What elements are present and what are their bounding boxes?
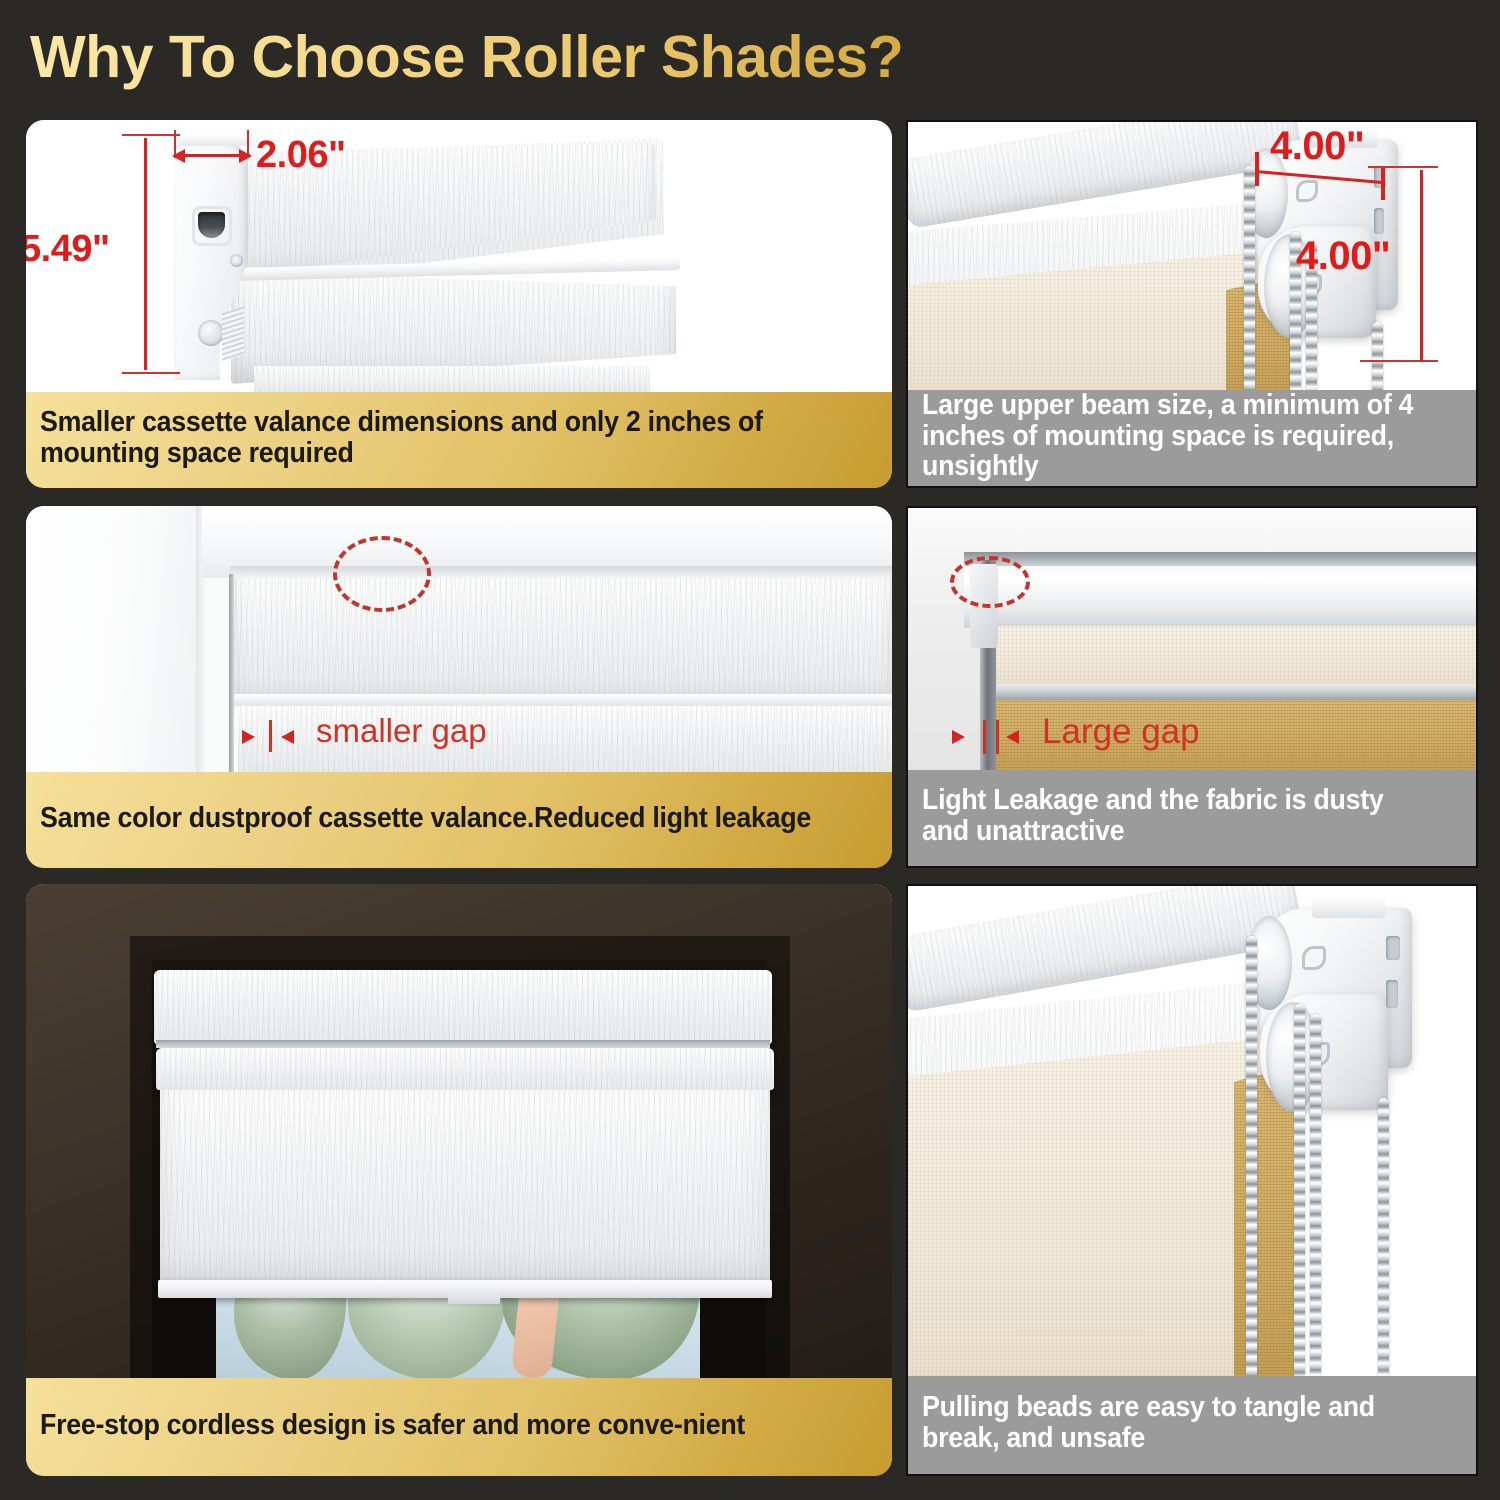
panel-free-stop-cordless: Free-stop cordless design is safer and m… bbox=[26, 884, 892, 1476]
bracket-top-tab bbox=[1312, 898, 1386, 918]
dim-label-width-4: 4.00" bbox=[1270, 124, 1364, 169]
gap-label-smaller: smaller gap bbox=[316, 712, 487, 750]
panel-pulling-beads: Pulling beads are easy to tangle and bre… bbox=[906, 884, 1478, 1476]
panel-6-caption-text: Pulling beads are easy to tangle and bre… bbox=[922, 1392, 1430, 1454]
cassette-head-rail-lower bbox=[156, 1048, 774, 1090]
panel-light-leakage: Large gap Light Leakage and the fabric i… bbox=[906, 506, 1478, 868]
shade-pull-tab bbox=[448, 1288, 500, 1304]
panel-5-caption-text: Free-stop cordless design is safer and m… bbox=[40, 1410, 828, 1441]
panel-same-color-valance: smaller gap Same color dustproof cassett… bbox=[26, 506, 892, 868]
bracket-embossed-icon-upper bbox=[1302, 946, 1326, 970]
fabric-cream-band bbox=[996, 626, 1476, 688]
panel-4-caption: Light Leakage and the fabric is dusty an… bbox=[908, 770, 1476, 866]
dim-arrow-left-2-06 bbox=[172, 149, 185, 163]
dim-label-width: 2.06" bbox=[256, 134, 345, 177]
gap-arrow-right bbox=[281, 730, 294, 744]
end-cap-screw-bottom bbox=[198, 320, 224, 346]
panel-4-photo: Large gap bbox=[908, 508, 1476, 774]
bead-chain-4 bbox=[1378, 1098, 1389, 1380]
panel-2-caption-text: Large upper beam size, a minimum of 4 in… bbox=[922, 390, 1430, 482]
panel-large-upper-beam: 4.00" 4.00" Large upper beam size, a min… bbox=[906, 120, 1478, 488]
gap-mark-line-2 bbox=[996, 720, 999, 754]
panel-2-photo: 4.00" 4.00" bbox=[908, 122, 1476, 394]
gap-mark-line-1 bbox=[983, 720, 986, 754]
panel-1-photo: 2.06" 5.49" bbox=[26, 120, 892, 392]
dim-ext-bottom bbox=[122, 372, 180, 374]
gap-arrow-left bbox=[952, 730, 965, 744]
panel-2-caption: Large upper beam size, a minimum of 4 in… bbox=[908, 390, 1476, 486]
end-cap-clutch-ring bbox=[192, 206, 232, 246]
panel-3-caption-text: Same color dustproof cassette valance.Re… bbox=[40, 803, 828, 834]
shade-fabric-main-2 bbox=[160, 1090, 770, 1284]
panel-5-caption: Free-stop cordless design is safer and m… bbox=[26, 1378, 892, 1476]
dim-ext-top bbox=[122, 134, 180, 136]
panel-5-photo bbox=[26, 884, 892, 1378]
gap-arrow-right bbox=[1006, 730, 1019, 744]
panel-6-photo bbox=[908, 886, 1476, 1380]
window-frame-left bbox=[26, 506, 202, 772]
cassette-valance-slat bbox=[234, 578, 892, 702]
bracket-notch-mid bbox=[1386, 980, 1398, 1008]
shade-fabric-cream bbox=[908, 1036, 1280, 1380]
bead-chain-1 bbox=[1244, 166, 1255, 394]
panel-1-caption: Smaller cassette valance dimensions and … bbox=[26, 392, 892, 488]
dim-label-height-4: 4.00" bbox=[1296, 234, 1390, 279]
gap-highlight-circle bbox=[950, 556, 1030, 608]
gap-highlight-circle bbox=[333, 536, 431, 612]
panel-6-caption: Pulling beads are easy to tangle and bre… bbox=[908, 1376, 1476, 1474]
dim-line-height-4 bbox=[1420, 170, 1423, 362]
dim-ext-bottom-4 bbox=[1360, 360, 1438, 362]
bead-chain-4 bbox=[1372, 322, 1383, 394]
panel-3-caption: Same color dustproof cassette valance.Re… bbox=[26, 772, 892, 868]
head-rail-groove bbox=[156, 1040, 770, 1048]
gap-label-large: Large gap bbox=[1042, 712, 1200, 752]
gap-edge-line bbox=[229, 574, 234, 772]
bead-chain-2 bbox=[1294, 1004, 1305, 1380]
gap-arrow-left bbox=[242, 730, 255, 744]
panel-3-photo: smaller gap bbox=[26, 506, 892, 772]
dim-tick-left-4 bbox=[1255, 152, 1259, 186]
dim-arrow-right-2-06 bbox=[239, 149, 252, 163]
end-cap-ratchet-teeth bbox=[222, 306, 244, 361]
bracket-notch-mid bbox=[1374, 208, 1384, 234]
top-beam bbox=[964, 556, 1476, 628]
dim-tick-right-4 bbox=[1381, 166, 1385, 200]
beam-underside bbox=[964, 552, 1476, 566]
bead-chain-3 bbox=[1310, 1014, 1321, 1380]
dim-label-height: 5.49" bbox=[26, 228, 109, 271]
end-cap-top-tab bbox=[178, 134, 250, 146]
end-cap-screw-top bbox=[230, 254, 243, 267]
panel-4-caption-text: Light Leakage and the fabric is dusty an… bbox=[922, 785, 1430, 847]
gap-mark-line bbox=[269, 720, 272, 752]
beam-bottom-bar bbox=[994, 684, 1476, 700]
dim-ext-top-4 bbox=[1368, 166, 1438, 168]
page-title: Why To Choose Roller Shades? bbox=[30, 22, 1230, 92]
bracket-notch-upper bbox=[1386, 936, 1400, 960]
panel-smaller-cassette: 2.06" 5.49" Smaller cassette valance dim… bbox=[26, 120, 892, 488]
panel-1-caption-text: Smaller cassette valance dimensions and … bbox=[40, 407, 828, 469]
hanging-fabric bbox=[254, 366, 650, 392]
bracket-embossed-icon-upper bbox=[1296, 180, 1318, 202]
bead-chain-1 bbox=[1246, 936, 1257, 1380]
valance-edge-highlight bbox=[234, 694, 892, 706]
cassette-head-rail bbox=[154, 970, 772, 1044]
infographic-root: Why To Choose Roller Shades? bbox=[0, 0, 1500, 1500]
dim-line-5-49 bbox=[144, 138, 147, 370]
